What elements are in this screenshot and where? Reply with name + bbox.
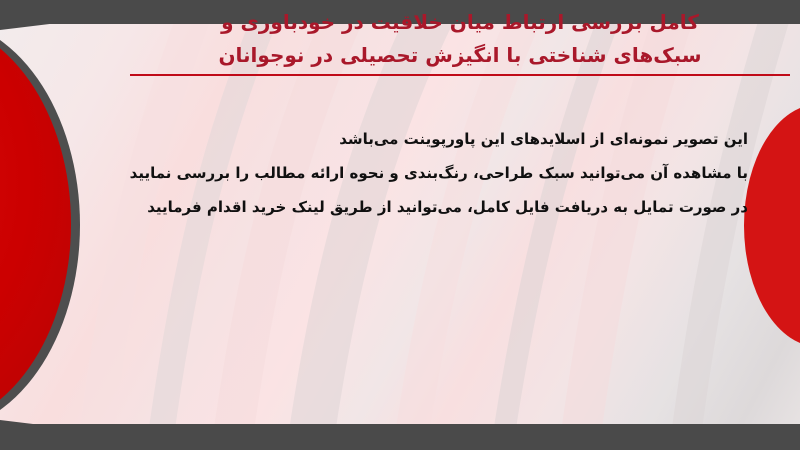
body-line-2: با مشاهده آن می‌توانید سبک طراحی، رنگ‌بن… (88, 156, 748, 190)
body-line-1: این تصویر نمونه‌ای از اسلایدهای این پاور… (88, 122, 748, 156)
body-line-3: در صورت تمایل به دریافت فایل کامل، می‌تو… (88, 190, 748, 224)
presentation-slide: کامل بررسی ارتباط میان خلاقیت در خودباور… (0, 0, 800, 450)
title-line-1: کامل بررسی ارتباط میان خلاقیت در خودباور… (130, 6, 790, 39)
bottom-frame-bar (0, 424, 800, 450)
title-line-2: سبک‌های شناختی با انگیزش تحصیلی در نوجوا… (130, 39, 790, 72)
title-underline-rule (130, 74, 790, 76)
slide-title: کامل بررسی ارتباط میان خلاقیت در خودباور… (130, 6, 790, 72)
slide-body: این تصویر نمونه‌ای از اسلایدهای این پاور… (88, 122, 748, 224)
